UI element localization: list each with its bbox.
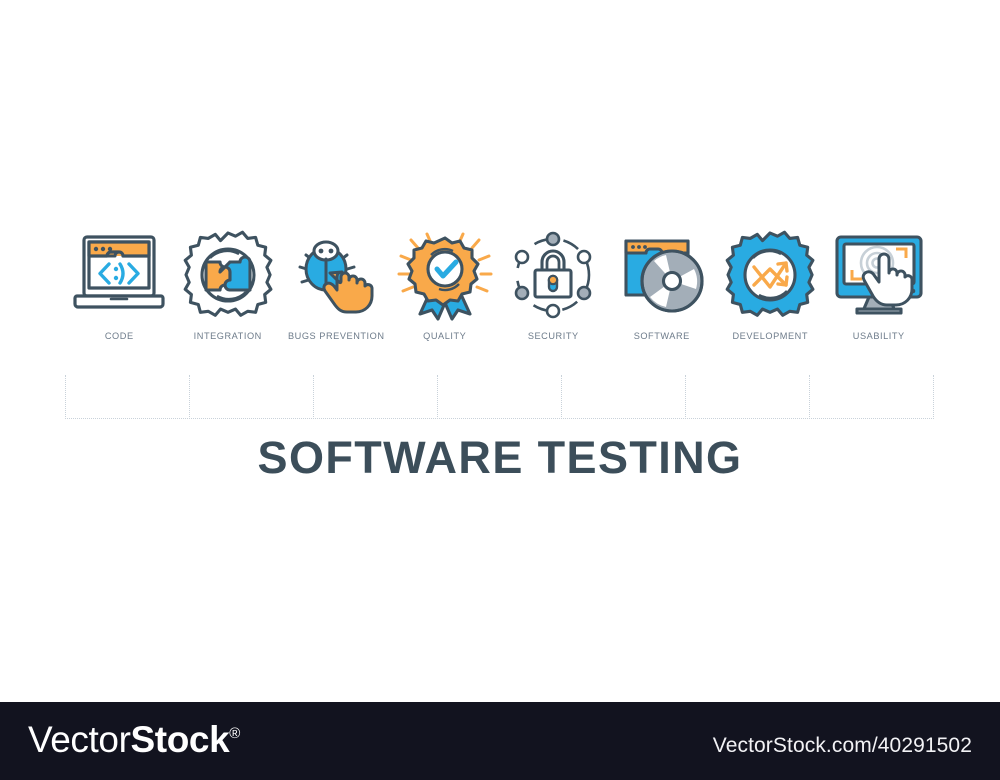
grid-divider [685,375,686,419]
item-label: BUGS PREVENTION [288,331,385,341]
grid-divider [189,375,190,419]
infographic-item-development[interactable]: DEVELOPMENT [716,225,825,341]
page-title: SOFTWARE TESTING [0,432,1000,484]
grid-divider [561,375,562,419]
padlock-network-icon [501,225,605,325]
grid-baseline [65,418,934,419]
grid-divider [933,375,934,419]
gear-arrows-icon [718,225,822,325]
watermark-footer: VectorStock® VectorStock.com/40291502 [0,702,1000,780]
item-label: SECURITY [528,331,579,341]
laptop-code-icon [67,225,171,325]
infographic-item-bugs-prevention[interactable]: BUGS PREVENTION [282,225,391,341]
infographic-item-quality[interactable]: QUALITY [391,225,500,341]
registered-mark-icon: ® [229,725,240,742]
infographic-item-code[interactable]: CODE [65,225,174,341]
quality-badge-icon [393,225,497,325]
item-label: USABILITY [853,331,905,341]
grid-divider [65,375,66,419]
artboard: CODE [0,0,1000,702]
brand-bold: Stock [131,719,230,760]
infographic-item-integration[interactable]: INTEGRATION [174,225,283,341]
grid-divider [437,375,438,419]
item-label: INTEGRATION [194,331,262,341]
item-label: CODE [105,331,134,341]
monitor-touch-icon [827,225,931,325]
brand-light: Vector [28,719,131,760]
grid-divider [313,375,314,419]
icon-row: CODE [65,225,933,341]
infographic-item-software[interactable]: SOFTWARE [608,225,717,341]
infographic-item-security[interactable]: SECURITY [499,225,608,341]
grid-divider [809,375,810,419]
window-disc-icon [610,225,714,325]
vectorstock-logo: VectorStock® [28,719,240,761]
infographic-container: CODE [0,225,1000,341]
item-label: DEVELOPMENT [733,331,808,341]
bug-hand-icon [284,225,388,325]
watermark-url: VectorStock.com/40291502 [713,734,972,758]
item-label: QUALITY [423,331,466,341]
infographic-item-usability[interactable]: USABILITY [825,225,934,341]
item-label: SOFTWARE [634,331,690,341]
dashed-grid [65,375,934,419]
gear-puzzle-icon [176,225,280,325]
